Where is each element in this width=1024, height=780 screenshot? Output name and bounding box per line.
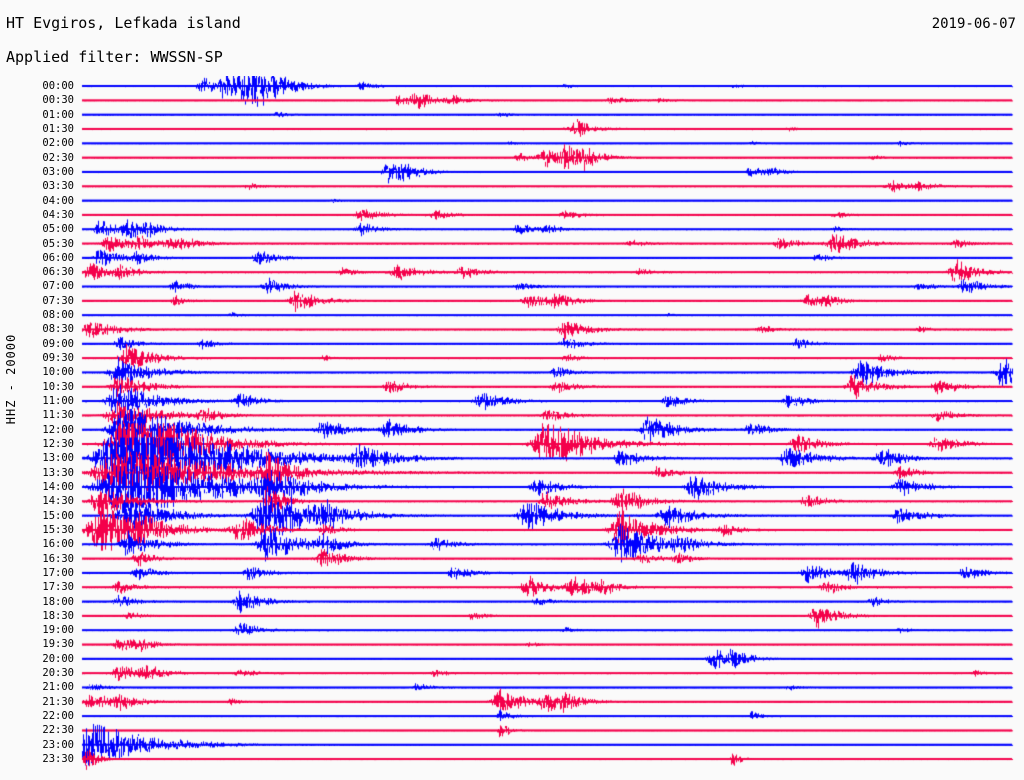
time-tick-06-00: 06:00: [42, 253, 74, 263]
trace-canvas: [0, 76, 1024, 776]
helicorder-plot: 00:0000:3001:0001:3002:0002:3003:0003:30…: [0, 76, 1024, 776]
time-tick-15-30: 15:30: [42, 525, 74, 535]
time-tick-17-00: 17:00: [42, 568, 74, 578]
time-tick-11-30: 11:30: [42, 410, 74, 420]
time-tick-08-30: 08:30: [42, 324, 74, 334]
time-tick-19-30: 19:30: [42, 639, 74, 649]
time-tick-02-00: 02:00: [42, 138, 74, 148]
time-tick-00-00: 00:00: [42, 81, 74, 91]
time-tick-16-30: 16:30: [42, 554, 74, 564]
time-tick-02-30: 02:30: [42, 153, 74, 163]
time-tick-14-00: 14:00: [42, 482, 74, 492]
time-tick-20-00: 20:00: [42, 654, 74, 664]
time-tick-10-00: 10:00: [42, 367, 74, 377]
time-tick-04-00: 04:00: [42, 196, 74, 206]
time-tick-00-30: 00:30: [42, 95, 74, 105]
time-tick-01-00: 01:00: [42, 110, 74, 120]
time-tick-05-00: 05:00: [42, 224, 74, 234]
time-tick-18-00: 18:00: [42, 597, 74, 607]
time-tick-07-00: 07:00: [42, 281, 74, 291]
time-tick-17-30: 17:30: [42, 582, 74, 592]
time-tick-19-00: 19:00: [42, 625, 74, 635]
seismogram-page: HT Evgiros, Lefkada island Applied filte…: [0, 0, 1024, 780]
time-tick-13-00: 13:00: [42, 453, 74, 463]
time-tick-14-30: 14:30: [42, 496, 74, 506]
time-tick-09-00: 09:00: [42, 339, 74, 349]
time-axis-ticks: 00:0000:3001:0001:3002:0002:3003:0003:30…: [0, 76, 80, 776]
time-tick-22-30: 22:30: [42, 725, 74, 735]
time-tick-21-00: 21:00: [42, 682, 74, 692]
time-tick-13-30: 13:30: [42, 468, 74, 478]
time-tick-15-00: 15:00: [42, 511, 74, 521]
time-tick-11-00: 11:00: [42, 396, 74, 406]
page-title: HT Evgiros, Lefkada island: [6, 14, 241, 32]
time-tick-22-00: 22:00: [42, 711, 74, 721]
time-tick-08-00: 08:00: [42, 310, 74, 320]
time-tick-03-00: 03:00: [42, 167, 74, 177]
time-tick-23-30: 23:30: [42, 754, 74, 764]
time-tick-10-30: 10:30: [42, 382, 74, 392]
time-tick-09-30: 09:30: [42, 353, 74, 363]
time-tick-18-30: 18:30: [42, 611, 74, 621]
time-tick-12-30: 12:30: [42, 439, 74, 449]
time-tick-23-00: 23:00: [42, 740, 74, 750]
time-tick-16-00: 16:00: [42, 539, 74, 549]
filter-label: Applied filter: WWSSN-SP: [6, 48, 223, 66]
date-label: 2019-06-07: [932, 16, 1016, 32]
time-tick-03-30: 03:30: [42, 181, 74, 191]
time-tick-21-30: 21:30: [42, 697, 74, 707]
time-tick-12-00: 12:00: [42, 425, 74, 435]
time-tick-04-30: 04:30: [42, 210, 74, 220]
time-tick-01-30: 01:30: [42, 124, 74, 134]
time-tick-05-30: 05:30: [42, 239, 74, 249]
time-tick-20-30: 20:30: [42, 668, 74, 678]
time-tick-06-30: 06:30: [42, 267, 74, 277]
time-tick-07-30: 07:30: [42, 296, 74, 306]
